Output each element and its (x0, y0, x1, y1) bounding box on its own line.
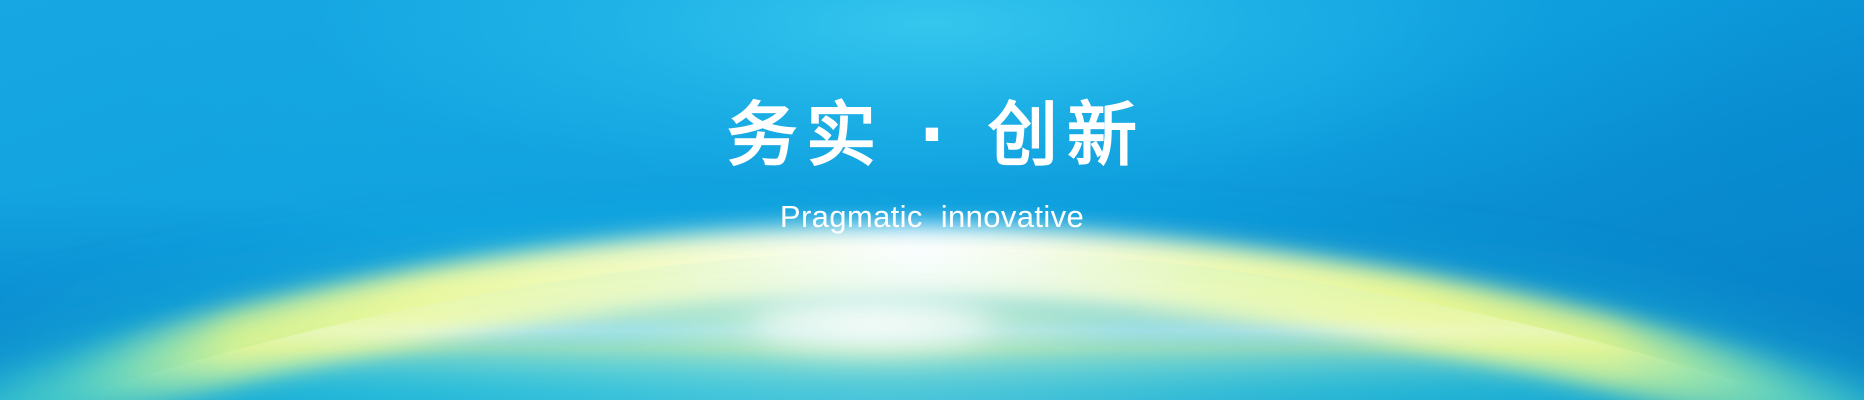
hero-banner: 务实 · 创新 Pragmatic innovative (0, 0, 1864, 400)
background-right-shade (0, 0, 1864, 400)
